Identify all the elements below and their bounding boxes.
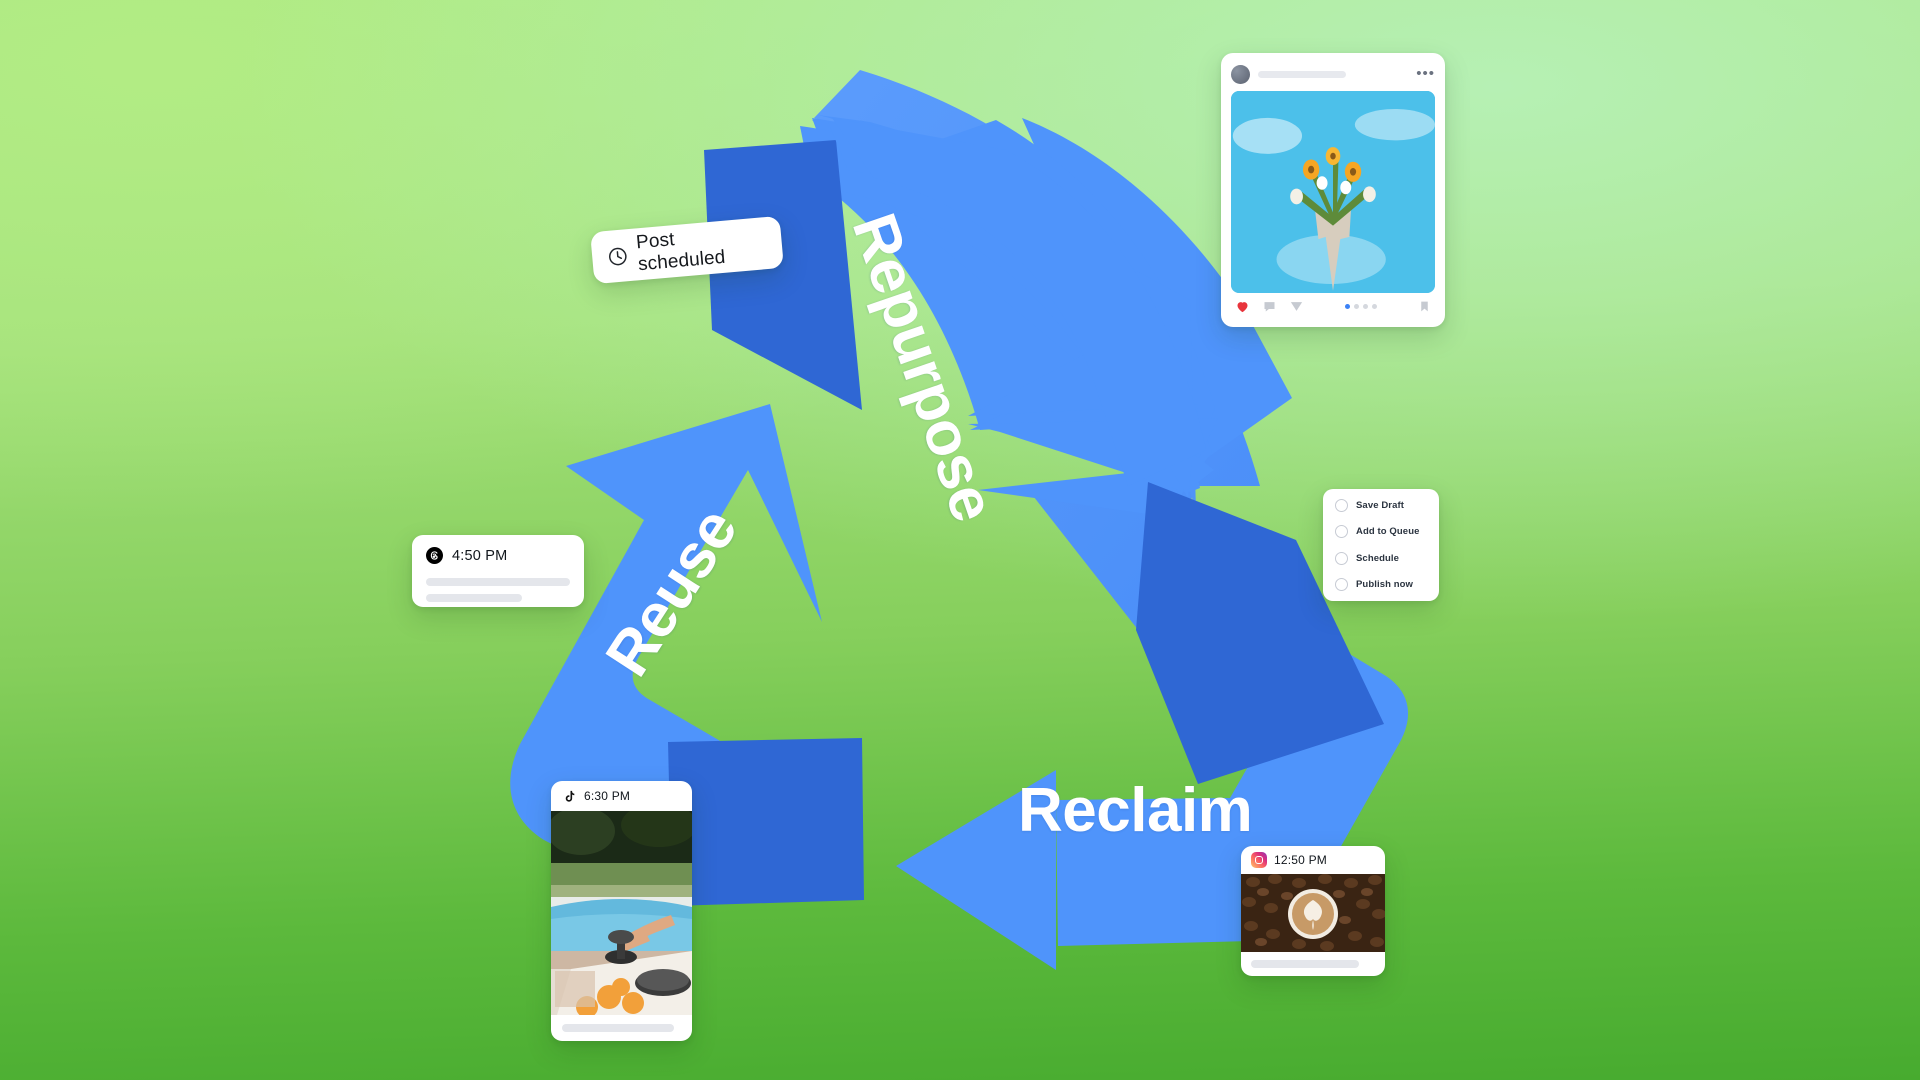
card-footer [551, 1015, 692, 1041]
card-footer [1241, 952, 1385, 976]
ellipsis-icon[interactable]: ••• [1416, 70, 1435, 78]
option-label: Add to Queue [1356, 526, 1419, 537]
threads-icon [426, 547, 443, 564]
bookmark-icon[interactable] [1418, 299, 1431, 314]
carousel-dots [1345, 304, 1377, 309]
recycle-symbol [0, 0, 1920, 1080]
option-label: Schedule [1356, 553, 1399, 564]
video-thumbnail [551, 811, 692, 1015]
instagram-icon [1251, 852, 1267, 868]
publish-options-card[interactable]: Save Draft Add to Queue Schedule Publish… [1323, 489, 1439, 601]
send-icon[interactable] [1289, 299, 1304, 314]
radio-icon[interactable] [1335, 499, 1348, 512]
post-thumbnail [1241, 874, 1385, 952]
canvas: Repurpose Reuse Reclaim Post scheduled •… [0, 0, 1920, 1080]
scheduled-time: 12:50 PM [1274, 853, 1327, 867]
username-placeholder [1258, 71, 1346, 78]
cycle-label-reclaim: Reclaim [1018, 775, 1252, 846]
post-media [1231, 91, 1435, 293]
comment-icon[interactable] [1262, 299, 1277, 314]
tiktok-icon [562, 789, 577, 804]
option-save-draft[interactable]: Save Draft [1335, 499, 1439, 512]
threads-scheduled-card[interactable]: 4:50 PM [412, 535, 584, 607]
fold-bottom [668, 738, 864, 906]
tiktok-scheduled-card[interactable]: 6:30 PM [551, 781, 692, 1041]
radio-icon[interactable] [1335, 552, 1348, 565]
scheduled-time: 6:30 PM [584, 789, 630, 803]
content-placeholder-line [1251, 960, 1359, 968]
clock-icon [606, 245, 629, 268]
instagram-scheduled-card[interactable]: 12:50 PM [1241, 846, 1385, 976]
heart-icon[interactable] [1235, 299, 1250, 314]
option-label: Save Draft [1356, 500, 1404, 511]
post-scheduled-label: Post scheduled [635, 221, 768, 276]
card-header: 12:50 PM [1241, 846, 1385, 874]
post-actions [1229, 293, 1437, 319]
content-placeholder-line [426, 578, 570, 586]
content-placeholder-line [426, 594, 522, 602]
radio-icon[interactable] [1335, 525, 1348, 538]
card-header: 6:30 PM [551, 781, 692, 811]
card-header: 4:50 PM [426, 547, 570, 564]
option-add-to-queue[interactable]: Add to Queue [1335, 525, 1439, 538]
instagram-post-card[interactable]: ••• [1221, 53, 1445, 327]
post-header: ••• [1229, 61, 1437, 87]
avatar [1231, 65, 1250, 84]
radio-icon[interactable] [1335, 578, 1348, 591]
option-publish-now[interactable]: Publish now [1335, 578, 1439, 591]
scheduled-time: 4:50 PM [452, 548, 507, 564]
option-label: Publish now [1356, 579, 1413, 590]
content-placeholder-line [562, 1024, 674, 1032]
option-schedule[interactable]: Schedule [1335, 552, 1439, 565]
